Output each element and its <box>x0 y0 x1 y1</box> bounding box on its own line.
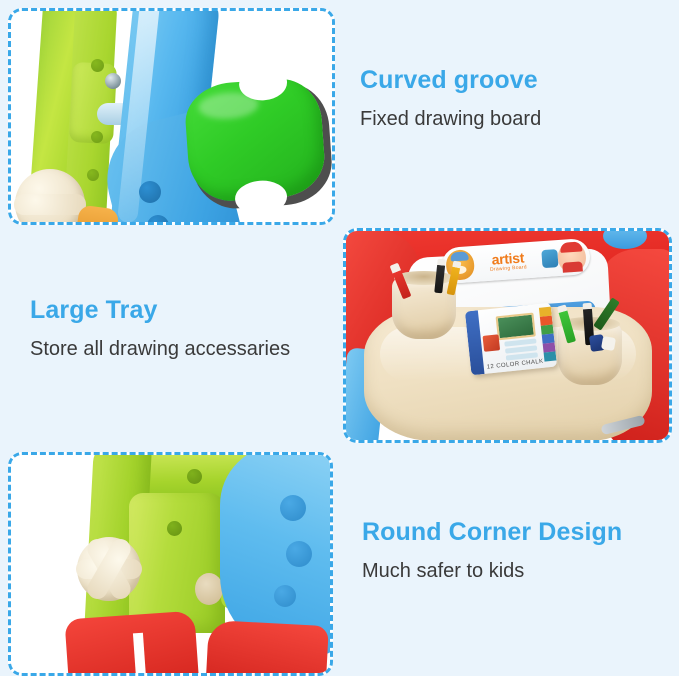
feature-text-curved-groove: Curved groove Fixed drawing board <box>360 66 660 134</box>
metal-screw-icon <box>105 73 121 89</box>
blue-panel-dimple-icon <box>274 585 296 607</box>
feature-heading: Round Corner Design <box>362 518 662 547</box>
photo-curved-groove <box>11 11 332 222</box>
photo-panel-large-tray: artist Drawing Board <box>343 228 672 443</box>
feature-subtext: Much safer to kids <box>362 558 662 586</box>
tan-small-knob <box>195 573 223 605</box>
screw-hole-icon <box>91 131 103 143</box>
photo-panel-curved-groove <box>8 8 335 225</box>
eraser-notch-bottom <box>234 179 288 217</box>
red-base-left <box>64 611 199 673</box>
screw-hole-icon <box>91 59 104 72</box>
feature-heading: Large Tray <box>30 296 310 325</box>
feature-subtext: Fixed drawing board <box>360 106 660 134</box>
photo-round-corner <box>11 455 330 673</box>
blue-panel-dimple-icon <box>286 541 312 567</box>
green-eraser <box>183 76 327 203</box>
photo-large-tray: artist Drawing Board <box>346 231 669 440</box>
chalk-box: 12 COLOR CHALK <box>465 303 557 376</box>
feature-text-round-corner: Round Corner Design Much safer to kids <box>362 518 662 586</box>
brand-logo: artist Drawing Board <box>473 249 542 274</box>
chalk-box-blackboard-graphic <box>496 313 536 341</box>
feature-heading: Curved groove <box>360 66 660 95</box>
girl-character-icon <box>557 241 587 273</box>
feature-text-large-tray: Large Tray Store all drawing accessaries <box>30 296 310 364</box>
red-base-right <box>205 620 329 673</box>
cream-star-knob <box>15 169 85 222</box>
cream-star-knob <box>77 537 141 601</box>
blue-panel-dimple-icon <box>280 495 306 521</box>
photo-panel-round-corner <box>8 452 333 676</box>
white-accessory <box>601 336 616 351</box>
chalk-box-picture <box>483 334 501 352</box>
hand-print-icon <box>541 249 558 268</box>
eraser-notch-top <box>238 65 288 102</box>
feature-subtext: Store all drawing accessaries <box>30 336 310 364</box>
screw-hole-icon <box>87 169 99 181</box>
screw-hole-icon <box>187 469 202 484</box>
blue-rail-hole-icon <box>139 181 161 203</box>
screw-hole-icon <box>167 521 182 536</box>
